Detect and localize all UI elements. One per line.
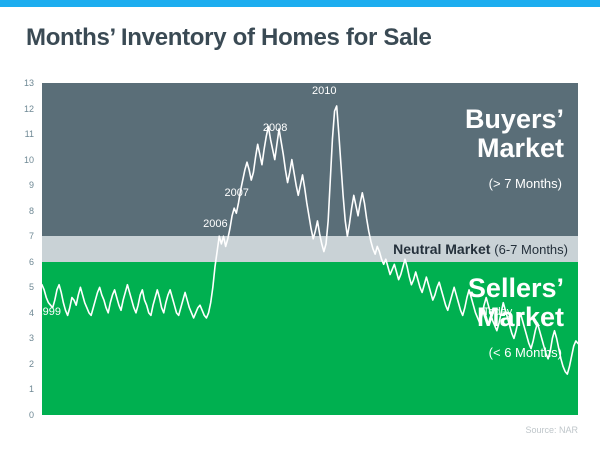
y-axis-tick-0: 0 xyxy=(29,410,34,420)
y-axis-tick-13: 13 xyxy=(24,78,34,88)
y-axis-tick-10: 10 xyxy=(24,155,34,165)
source-attribution: Source: NAR xyxy=(525,425,578,435)
buyers-market-line1: Buyers’ xyxy=(465,105,564,134)
page-title: Months’ Inventory of Homes for Sale xyxy=(26,24,432,52)
buyers-market-title: Buyers’ Market xyxy=(465,105,564,162)
y-axis-tick-5: 5 xyxy=(29,282,34,292)
neutral-market-label-bold: Neutral Market xyxy=(393,241,490,257)
accent-bar xyxy=(0,0,600,7)
annotation-1999: 1999 xyxy=(37,306,61,318)
y-axis-tick-4: 4 xyxy=(29,308,34,318)
annotation-2008: 2008 xyxy=(263,122,287,134)
y-axis-tick-12: 12 xyxy=(24,104,34,114)
sellers-market-subtitle: (< 6 Months) xyxy=(489,345,562,360)
buyers-market-subtitle: (> 7 Months) xyxy=(489,176,562,191)
y-axis-tick-1: 1 xyxy=(29,384,34,394)
y-axis-tick-3: 3 xyxy=(29,333,34,343)
y-axis-tick-8: 8 xyxy=(29,206,34,216)
y-axis: 012345678910111213 xyxy=(0,83,42,415)
inventory-line-chart: Buyers’ Market (> 7 Months) Neutral Mark… xyxy=(42,83,578,415)
annotation-2006: 2006 xyxy=(203,218,227,230)
neutral-market-label: Neutral Market (6-7 Months) xyxy=(393,238,568,260)
neutral-market-label-range: (6-7 Months) xyxy=(494,242,568,257)
sellers-market-line1: Sellers’ xyxy=(468,274,564,303)
slide-root: Months’ Inventory of Homes for Sale 0123… xyxy=(0,0,600,450)
y-axis-tick-2: 2 xyxy=(29,359,34,369)
y-axis-tick-9: 9 xyxy=(29,180,34,190)
annotation-today: Today xyxy=(483,306,512,318)
sellers-market-title: Sellers’ Market xyxy=(468,274,564,331)
y-axis-tick-11: 11 xyxy=(25,129,34,139)
y-axis-tick-6: 6 xyxy=(29,257,34,267)
buyers-market-line2: Market xyxy=(465,134,564,163)
annotation-2007: 2007 xyxy=(224,187,248,199)
y-axis-tick-7: 7 xyxy=(29,231,34,241)
annotation-2010: 2010 xyxy=(312,85,336,97)
